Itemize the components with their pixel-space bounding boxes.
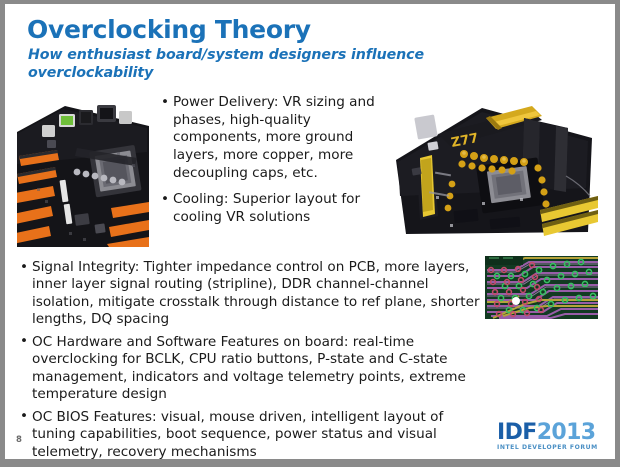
motherboard-orange-illustration — [17, 92, 149, 247]
bullet-marker-icon: • — [20, 408, 28, 426]
pcb-trace-routing — [485, 256, 598, 319]
bullet-item: • Signal Integrity: Tighter impedance co… — [19, 259, 489, 329]
idf-logo-wordmark: IDF2013 — [497, 422, 603, 444]
motherboard-photo-z77: Z77 — [390, 92, 598, 242]
motherboard-z77-illustration: Z77 — [390, 92, 598, 242]
pcb-routing-illustration — [485, 256, 598, 319]
page-title: Overclocking Theory — [27, 15, 311, 44]
slide-frame: Overclocking Theory How enthusiast board… — [0, 0, 620, 467]
bullet-marker-icon: • — [161, 191, 169, 209]
bullet-marker-icon: • — [20, 259, 28, 277]
bullet-marker-icon: • — [161, 94, 169, 112]
bullet-item: • Cooling: Superior layout for cooling V… — [160, 191, 385, 226]
bullet-item: • OC Hardware and Software Features on b… — [19, 334, 489, 404]
bullet-list-top: • Power Delivery: VR sizing and phases, … — [160, 94, 385, 236]
bullet-marker-icon: • — [20, 333, 28, 351]
page-subtitle: How enthusiast board/system designers in… — [28, 46, 498, 82]
idf-logo: IDF2013 INTEL DEVELOPER FORUM — [497, 422, 603, 450]
idf-logo-tagline: INTEL DEVELOPER FORUM — [497, 445, 603, 451]
bullet-text: Cooling: Superior layout for cooling VR … — [173, 191, 360, 225]
slide-canvas: Overclocking Theory How enthusiast board… — [5, 4, 615, 459]
idf-logo-year: 2013 — [537, 420, 596, 445]
bullet-text: OC Hardware and Software Features on boa… — [32, 334, 466, 402]
idf-logo-idf: IDF — [497, 420, 537, 445]
bullet-item: • Power Delivery: VR sizing and phases, … — [160, 94, 385, 182]
motherboard-photo-orange — [17, 92, 149, 247]
bullet-text: Signal Integrity: Tighter impedance cont… — [32, 259, 480, 327]
page-number: 8 — [16, 435, 22, 445]
bullet-text: Power Delivery: VR sizing and phases, hi… — [173, 94, 375, 181]
bullet-item: • OC BIOS Features: visual, mouse driven… — [19, 409, 489, 459]
bullet-list-bottom: • Signal Integrity: Tighter impedance co… — [19, 259, 489, 459]
bullet-text: OC BIOS Features: visual, mouse driven, … — [32, 409, 443, 459]
